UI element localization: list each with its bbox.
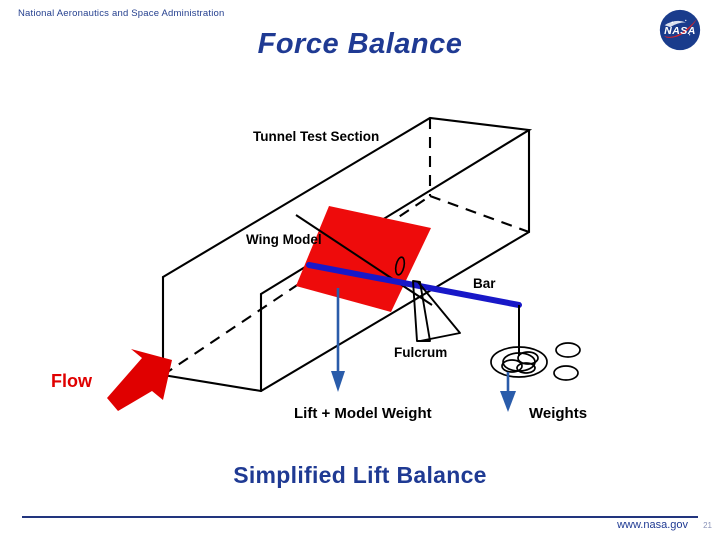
label-flow: Flow: [51, 371, 93, 391]
footer-url[interactable]: www.nasa.gov: [617, 519, 688, 531]
flow-arrow: [107, 349, 172, 411]
label-bar: Bar: [473, 276, 496, 291]
label-fulcrum: Fulcrum: [394, 345, 447, 360]
lift-model-weight-arrow: [331, 288, 345, 392]
weights-arrow: [500, 372, 516, 412]
footer-divider: [22, 516, 698, 518]
slide-canvas: National Aeronautics and Space Administr…: [0, 0, 720, 540]
simplified-lift-balance-diagram: Tunnel Test Section Wing Model Bar Fulcr…: [0, 0, 720, 540]
label-weights: Weights: [529, 405, 587, 422]
label-lift-model-weight: Lift + Model Weight: [294, 405, 432, 422]
label-wing-model: Wing Model: [246, 232, 322, 247]
label-tunnel-test-section: Tunnel Test Section: [253, 129, 379, 144]
slide-subtitle: Simplified Lift Balance: [0, 462, 720, 489]
loose-weight-discs: [554, 343, 580, 380]
page-number: 21: [703, 521, 712, 530]
